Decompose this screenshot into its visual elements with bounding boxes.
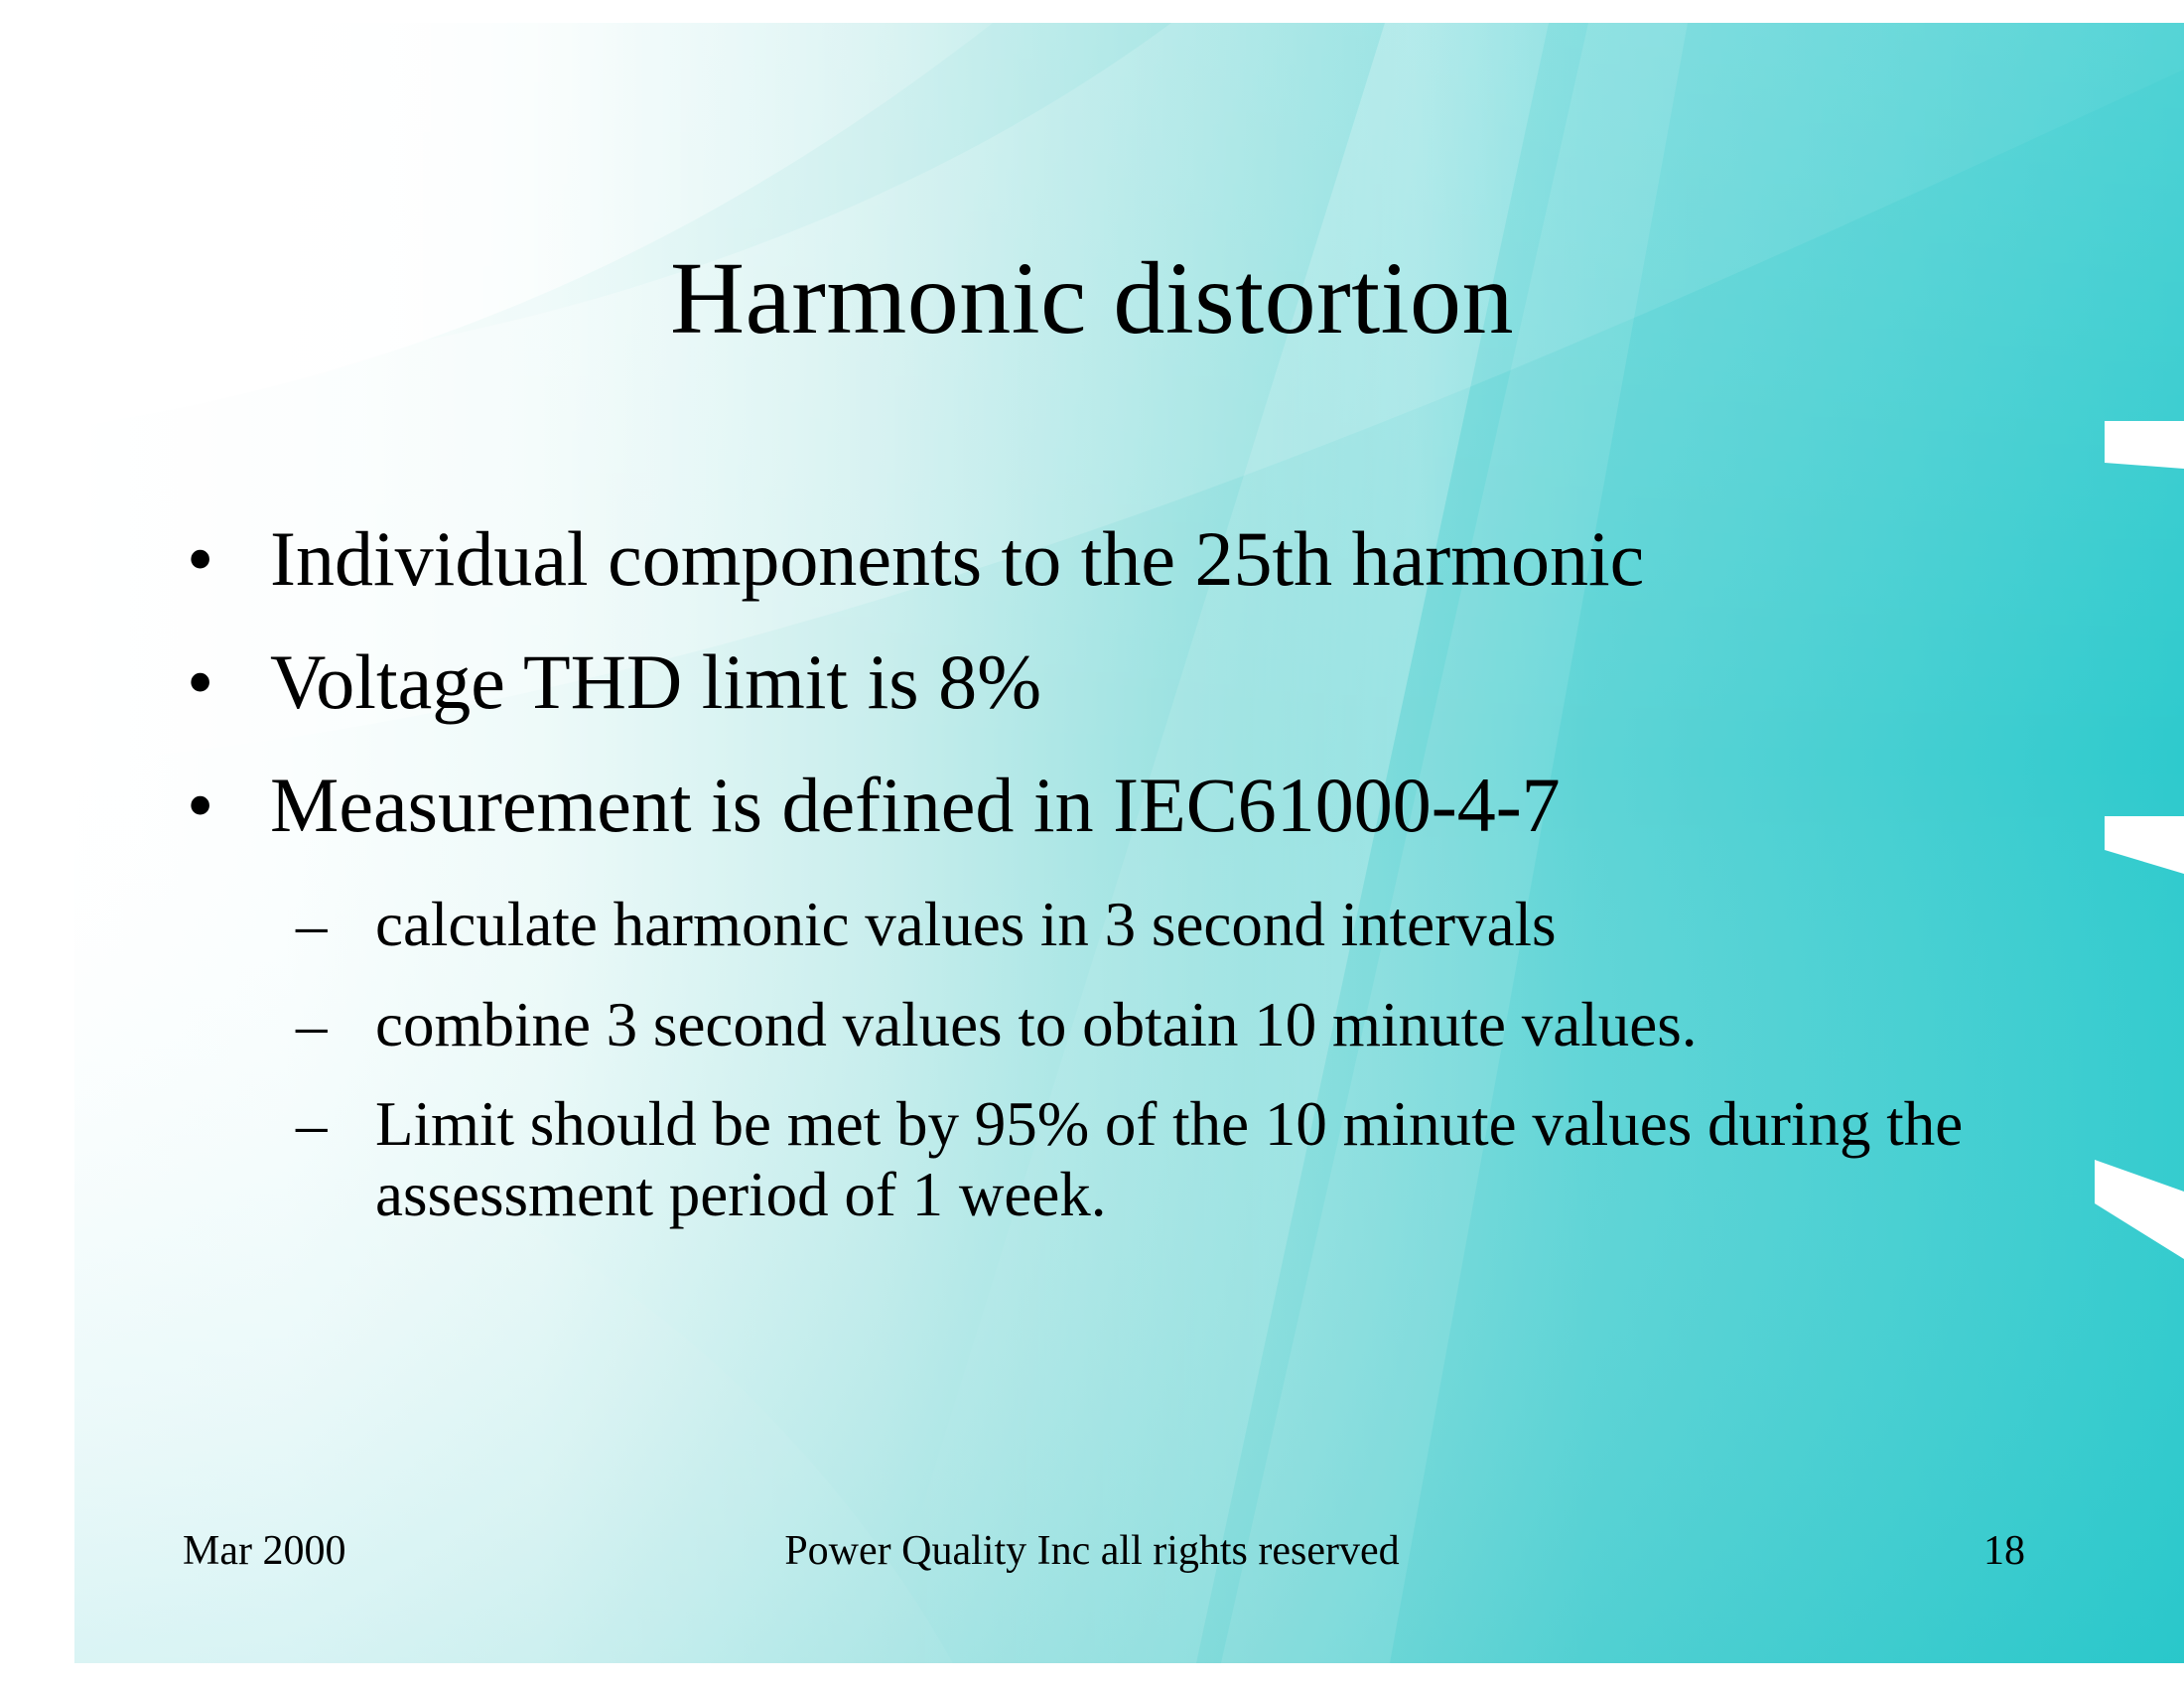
slide-title: Harmonic distortion [0,243,2184,354]
accent-bar-top [2105,421,2184,469]
presentation-slide: Harmonic distortion • Individual compone… [0,0,2184,1688]
sub-bullet-item: – calculate harmonic values in 3 second … [179,890,2065,960]
footer-page-number: 18 [1983,1527,2025,1575]
bullet-marker-dot: • [187,643,213,721]
bullet-marker-dash: – [296,1089,328,1160]
bullet-text: Individual components to the 25th harmon… [270,515,1644,602]
footer-copyright: Power Quality Inc all rights reserved [0,1527,2184,1575]
bullet-marker-dot: • [187,520,213,598]
bullet-item: • Individual components to the 25th harm… [179,520,2065,598]
bullet-marker-dash: – [296,990,328,1060]
sub-bullet-item: – Limit should be met by 95% of the 10 m… [179,1089,2065,1229]
sub-bullet-text: calculate harmonic values in 3 second in… [375,890,2065,960]
bullet-text: Voltage THD limit is 8% [270,638,1041,725]
bullet-item: • Voltage THD limit is 8% [179,643,2065,721]
slide-footer: Mar 2000 Power Quality Inc all rights re… [0,1527,2184,1587]
sub-bullet-text: Limit should be met by 95% of the 10 min… [375,1089,2065,1229]
slide-body: • Individual components to the 25th harm… [179,520,2065,1259]
sub-bullet-item: – combine 3 second values to obtain 10 m… [179,990,2065,1060]
bullet-text: Measurement is defined in IEC61000-4-7 [270,762,1561,848]
bullet-marker-dot: • [187,767,213,844]
bullet-marker-dash: – [296,890,328,960]
bullet-item: • Measurement is defined in IEC61000-4-7 [179,767,2065,844]
sub-bullet-text: combine 3 second values to obtain 10 min… [375,990,2065,1060]
